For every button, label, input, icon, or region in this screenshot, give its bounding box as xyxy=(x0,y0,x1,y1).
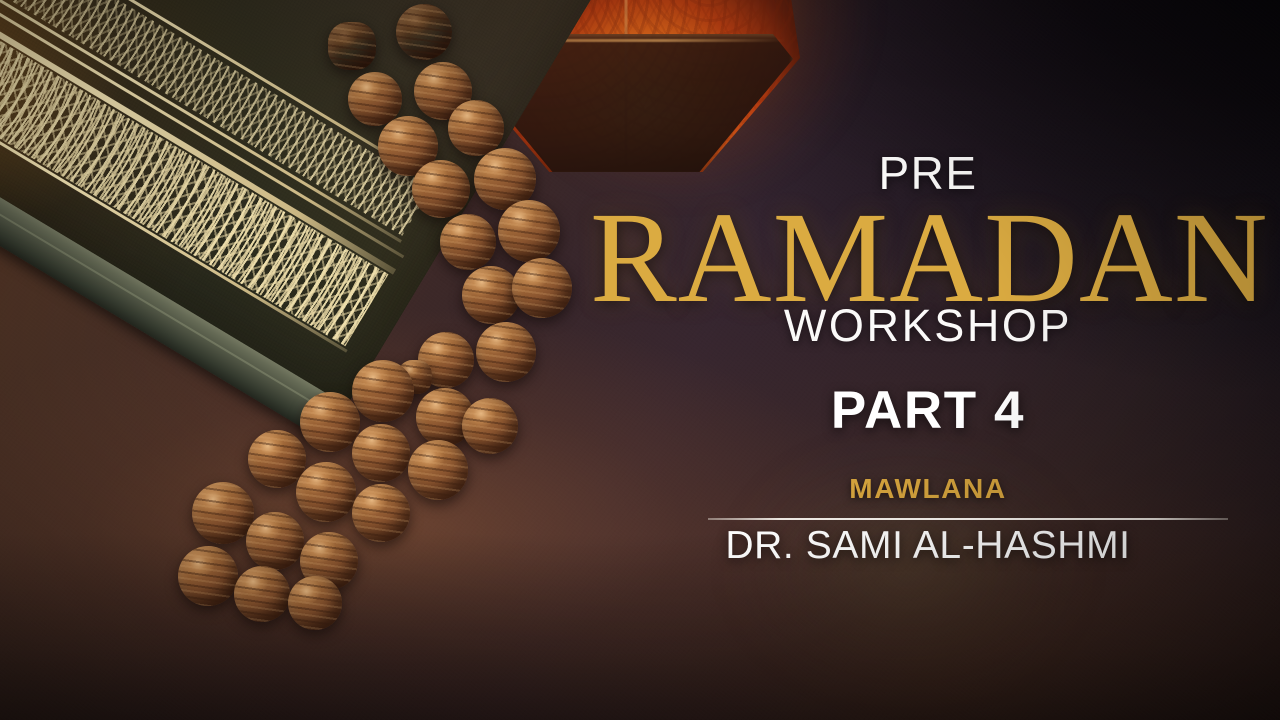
subtitle-text: WORKSHOP xyxy=(590,303,1266,348)
speaker-name: DR. SAMI AL-HASHMI xyxy=(590,526,1266,565)
part-label: PART 4 xyxy=(590,384,1266,437)
divider-rule xyxy=(708,518,1228,520)
ramadan-workshop-poster: PRE RAMADAN WORKSHOP PART 4 MAWLANA DR. … xyxy=(0,0,1280,720)
speaker-honorific: MAWLANA xyxy=(590,475,1266,503)
title-text-block: PRE RAMADAN WORKSHOP PART 4 MAWLANA DR. … xyxy=(590,0,1266,720)
